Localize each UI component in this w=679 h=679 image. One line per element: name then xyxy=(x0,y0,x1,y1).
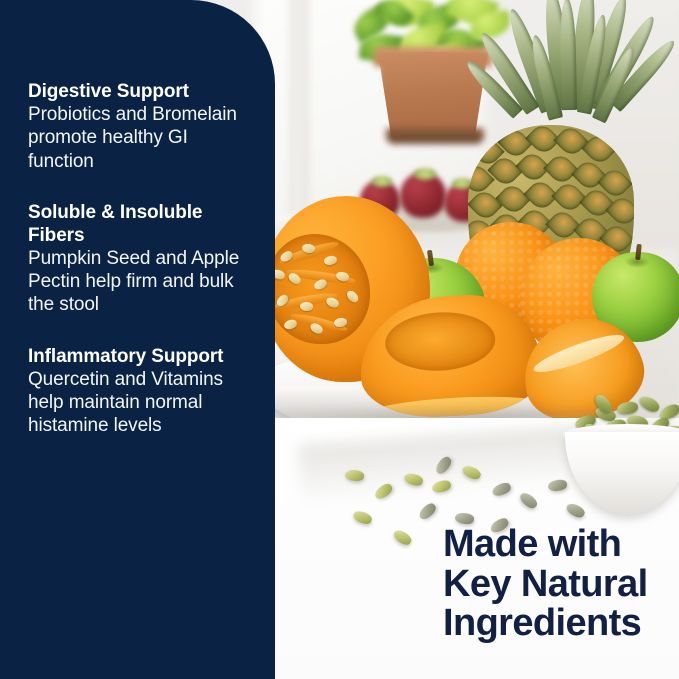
screenshot-stage: Made with Key Natural Ingredients Digest… xyxy=(0,0,679,679)
benefit-heading: Soluble & Insoluble Fibers xyxy=(28,201,257,247)
benefit-block-soluble-insoluble-fibers: Soluble & Insoluble Fibers Pumpkin Seed … xyxy=(28,201,257,317)
benefit-body: Probiotics and Bromelain promote healthy… xyxy=(28,103,257,173)
headline-line-2: Key Natural xyxy=(443,565,648,605)
headline-line-3: Ingredients xyxy=(443,604,648,644)
pumpkin-cavity xyxy=(266,234,370,344)
benefit-body: Pumpkin Seed and Apple Pectin help firm … xyxy=(28,247,257,317)
benefits-panel: Digestive Support Probiotics and Bromela… xyxy=(0,0,275,679)
benefit-block-inflammatory-support: Inflammatory Support Quercetin and Vitam… xyxy=(28,345,257,438)
benefit-block-digestive-support: Digestive Support Probiotics and Bromela… xyxy=(28,80,257,173)
headline: Made with Key Natural Ingredients xyxy=(443,525,648,644)
benefit-heading: Digestive Support xyxy=(28,80,257,103)
benefit-body: Quercetin and Vitamins help maintain nor… xyxy=(28,368,257,438)
benefit-heading: Inflammatory Support xyxy=(28,345,257,368)
headline-line-1: Made with xyxy=(443,525,648,565)
benefits-list: Digestive Support Probiotics and Bromela… xyxy=(28,80,257,437)
